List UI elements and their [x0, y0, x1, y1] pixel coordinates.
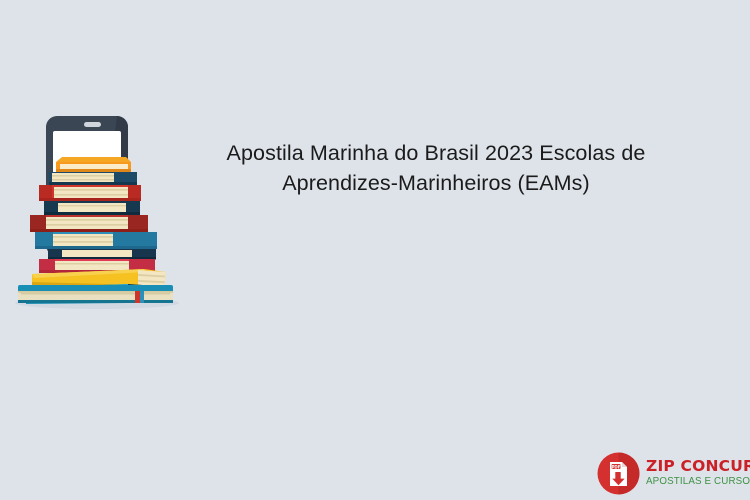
page-title-line-1: Apostila Marinha do Brasil 2023 Escolas …: [186, 138, 686, 168]
book-base: [18, 285, 173, 303]
book-navy: [44, 201, 140, 215]
logo-subtitle: APOSTILAS E CURSOS: [646, 477, 750, 487]
book-cream-navy: [49, 172, 137, 185]
pdf-download-circle-icon: PDF: [597, 452, 640, 495]
logo-text-block: ZIP CONCURSOS APOSTILAS E CURSOS: [646, 459, 750, 488]
page-title-line-2: Aprendizes-Marinheiros (EAMs): [186, 168, 686, 198]
books-tablet-illustration: [8, 112, 186, 312]
bookmark-red: [135, 291, 140, 303]
book-navy-slim: [48, 249, 156, 260]
logo-title: ZIP CONCURSOS: [646, 459, 750, 475]
bookmark-blue: [140, 291, 144, 303]
book-top-orange: [56, 157, 131, 172]
zip-concursos-logo[interactable]: PDF ZIP CONCURSOS APOSTILAS E CURSOS: [597, 450, 743, 496]
book-red: [39, 185, 141, 201]
svg-text:PDF: PDF: [612, 464, 621, 469]
book-maroon: [30, 215, 148, 232]
book-blue-wide: [35, 232, 157, 249]
banner-canvas: Apostila Marinha do Brasil 2023 Escolas …: [0, 0, 750, 500]
page-title: Apostila Marinha do Brasil 2023 Escolas …: [186, 138, 686, 198]
